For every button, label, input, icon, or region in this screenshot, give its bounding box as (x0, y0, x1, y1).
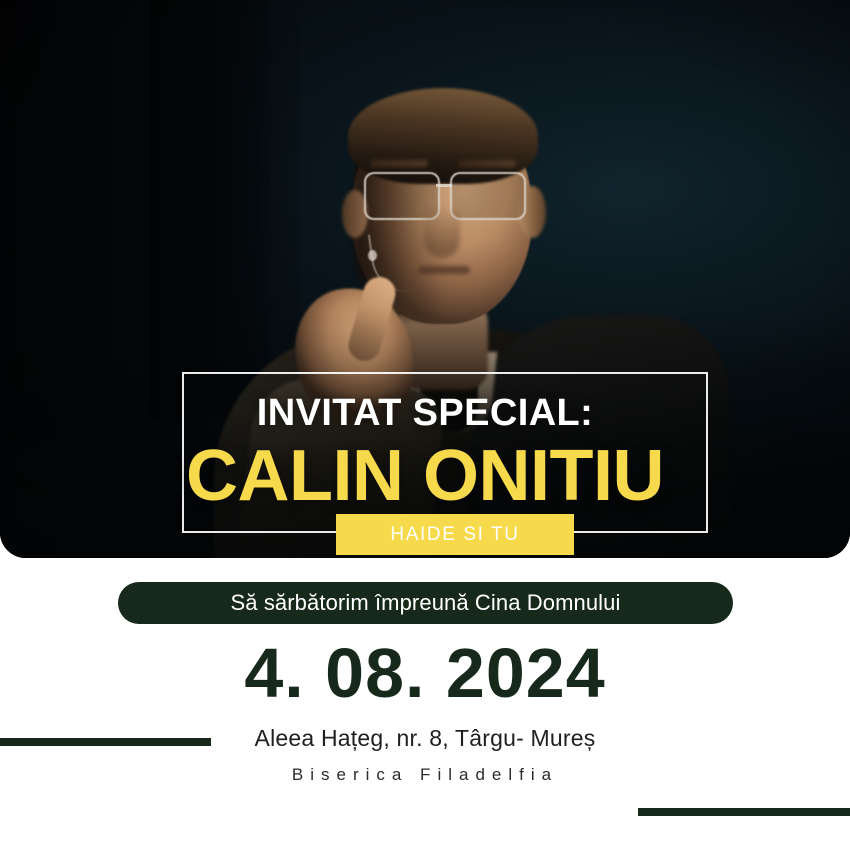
guest-name: CALIN ONITIU (0, 440, 850, 512)
decorative-bar-right (638, 808, 850, 816)
event-date: 4. 08. 2024 (0, 638, 850, 708)
speaker-photo: INVITAT SPECIAL: CALIN ONITIU HAIDE SI T… (0, 0, 850, 558)
overlay-kicker: INVITAT SPECIAL: (0, 392, 850, 435)
venue-name: Biserica Filadelfia (0, 765, 850, 785)
cta-badge: HAIDE SI TU (336, 514, 574, 555)
banner-pill: Să sărbătorim împreună Cina Domnului (118, 582, 733, 624)
decorative-bar-left (0, 738, 211, 746)
event-poster: INVITAT SPECIAL: CALIN ONITIU HAIDE SI T… (0, 0, 850, 850)
cta-badge-label: HAIDE SI TU (390, 524, 519, 546)
banner-text: Să sărbătorim împreună Cina Domnului (231, 590, 621, 616)
